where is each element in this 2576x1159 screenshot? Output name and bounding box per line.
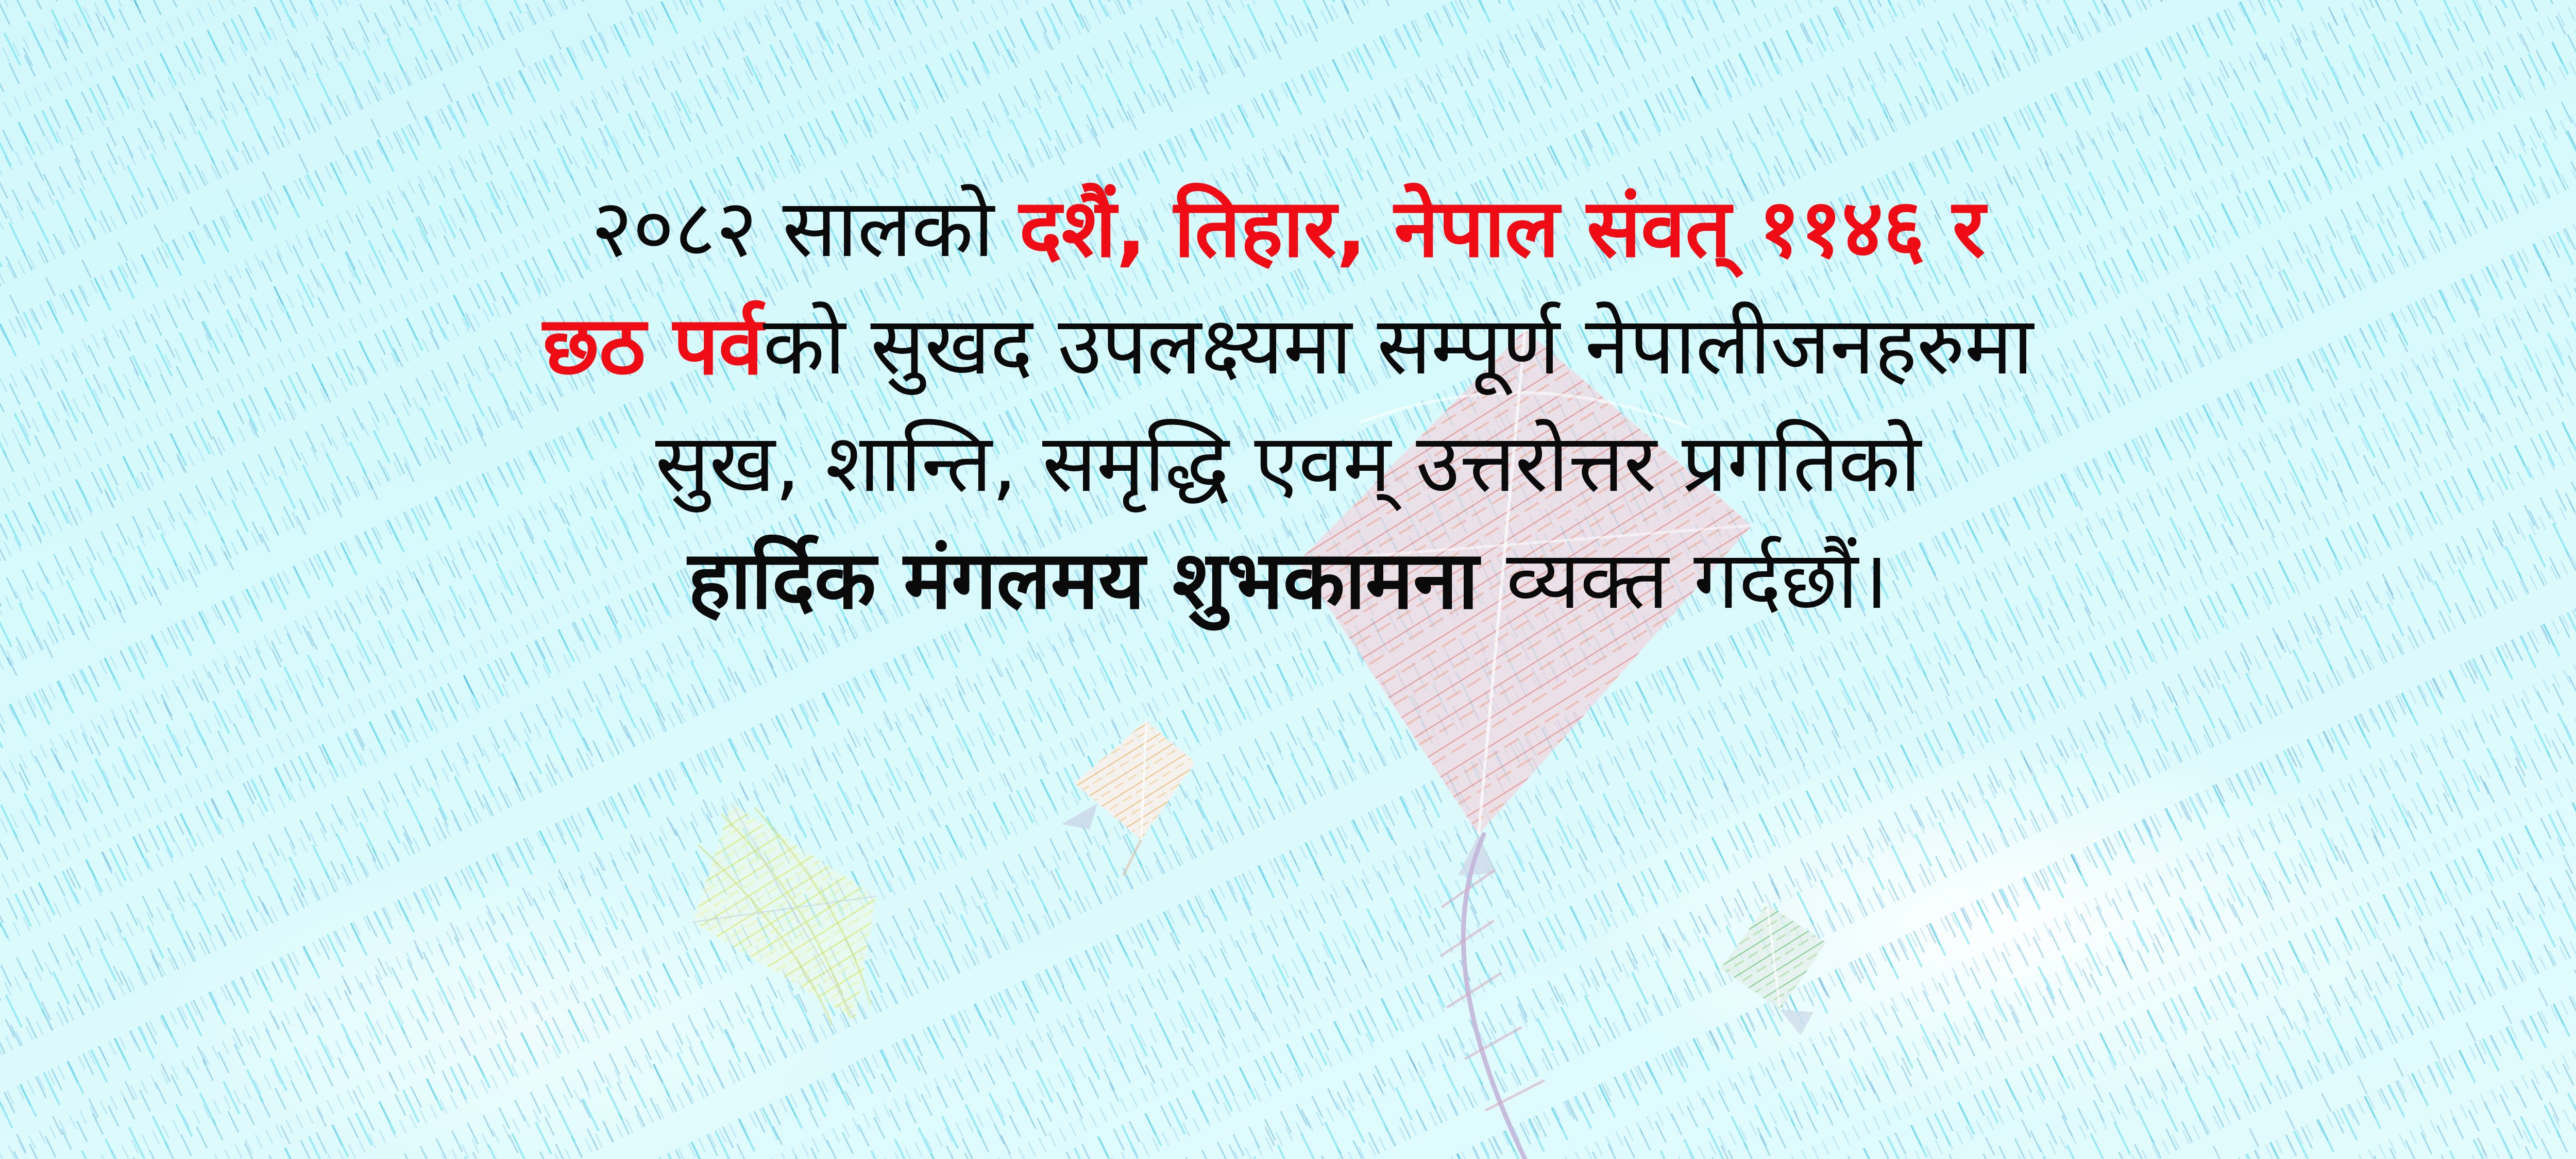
line-1-prefix: २०८२ सालको: [591, 181, 1019, 275]
line-1-highlight: दशैं, तिहार, नेपाल संवत् ११४६ र: [1019, 181, 1985, 275]
greeting-card-canvas: २०८२ सालको दशैं, तिहार, नेपाल संवत् ११४६…: [0, 0, 2576, 1159]
line-2-highlight: छठ पर्व: [543, 299, 763, 393]
greeting-line-3: सुख, शान्ति, समृद्धि एवम् उत्तरोत्तर प्र…: [0, 405, 2576, 522]
greeting-line-2: छठ पर्वको सुखद उपलक्ष्यमा सम्पूर्ण नेपाल…: [0, 287, 2576, 405]
greeting-line-4: हार्दिक मंगलमय शुभकामना व्यक्त गर्दछौं।: [0, 522, 2576, 639]
line-4-rest: व्यक्त गर्दछौं।: [1506, 533, 1888, 627]
line-2-rest: को सुखद उपलक्ष्यमा सम्पूर्ण नेपालीजनहरुम…: [763, 299, 2033, 393]
line-4-bold: हार्दिक मंगलमय शुभकामना: [688, 533, 1506, 627]
greeting-message: २०८२ सालको दशैं, तिहार, नेपाल संवत् ११४६…: [0, 170, 2576, 639]
greeting-line-1: २०८२ सालको दशैं, तिहार, नेपाल संवत् ११४६…: [0, 170, 2576, 287]
line-3-text: सुख, शान्ति, समृद्धि एवम् उत्तरोत्तर प्र…: [655, 416, 1921, 510]
